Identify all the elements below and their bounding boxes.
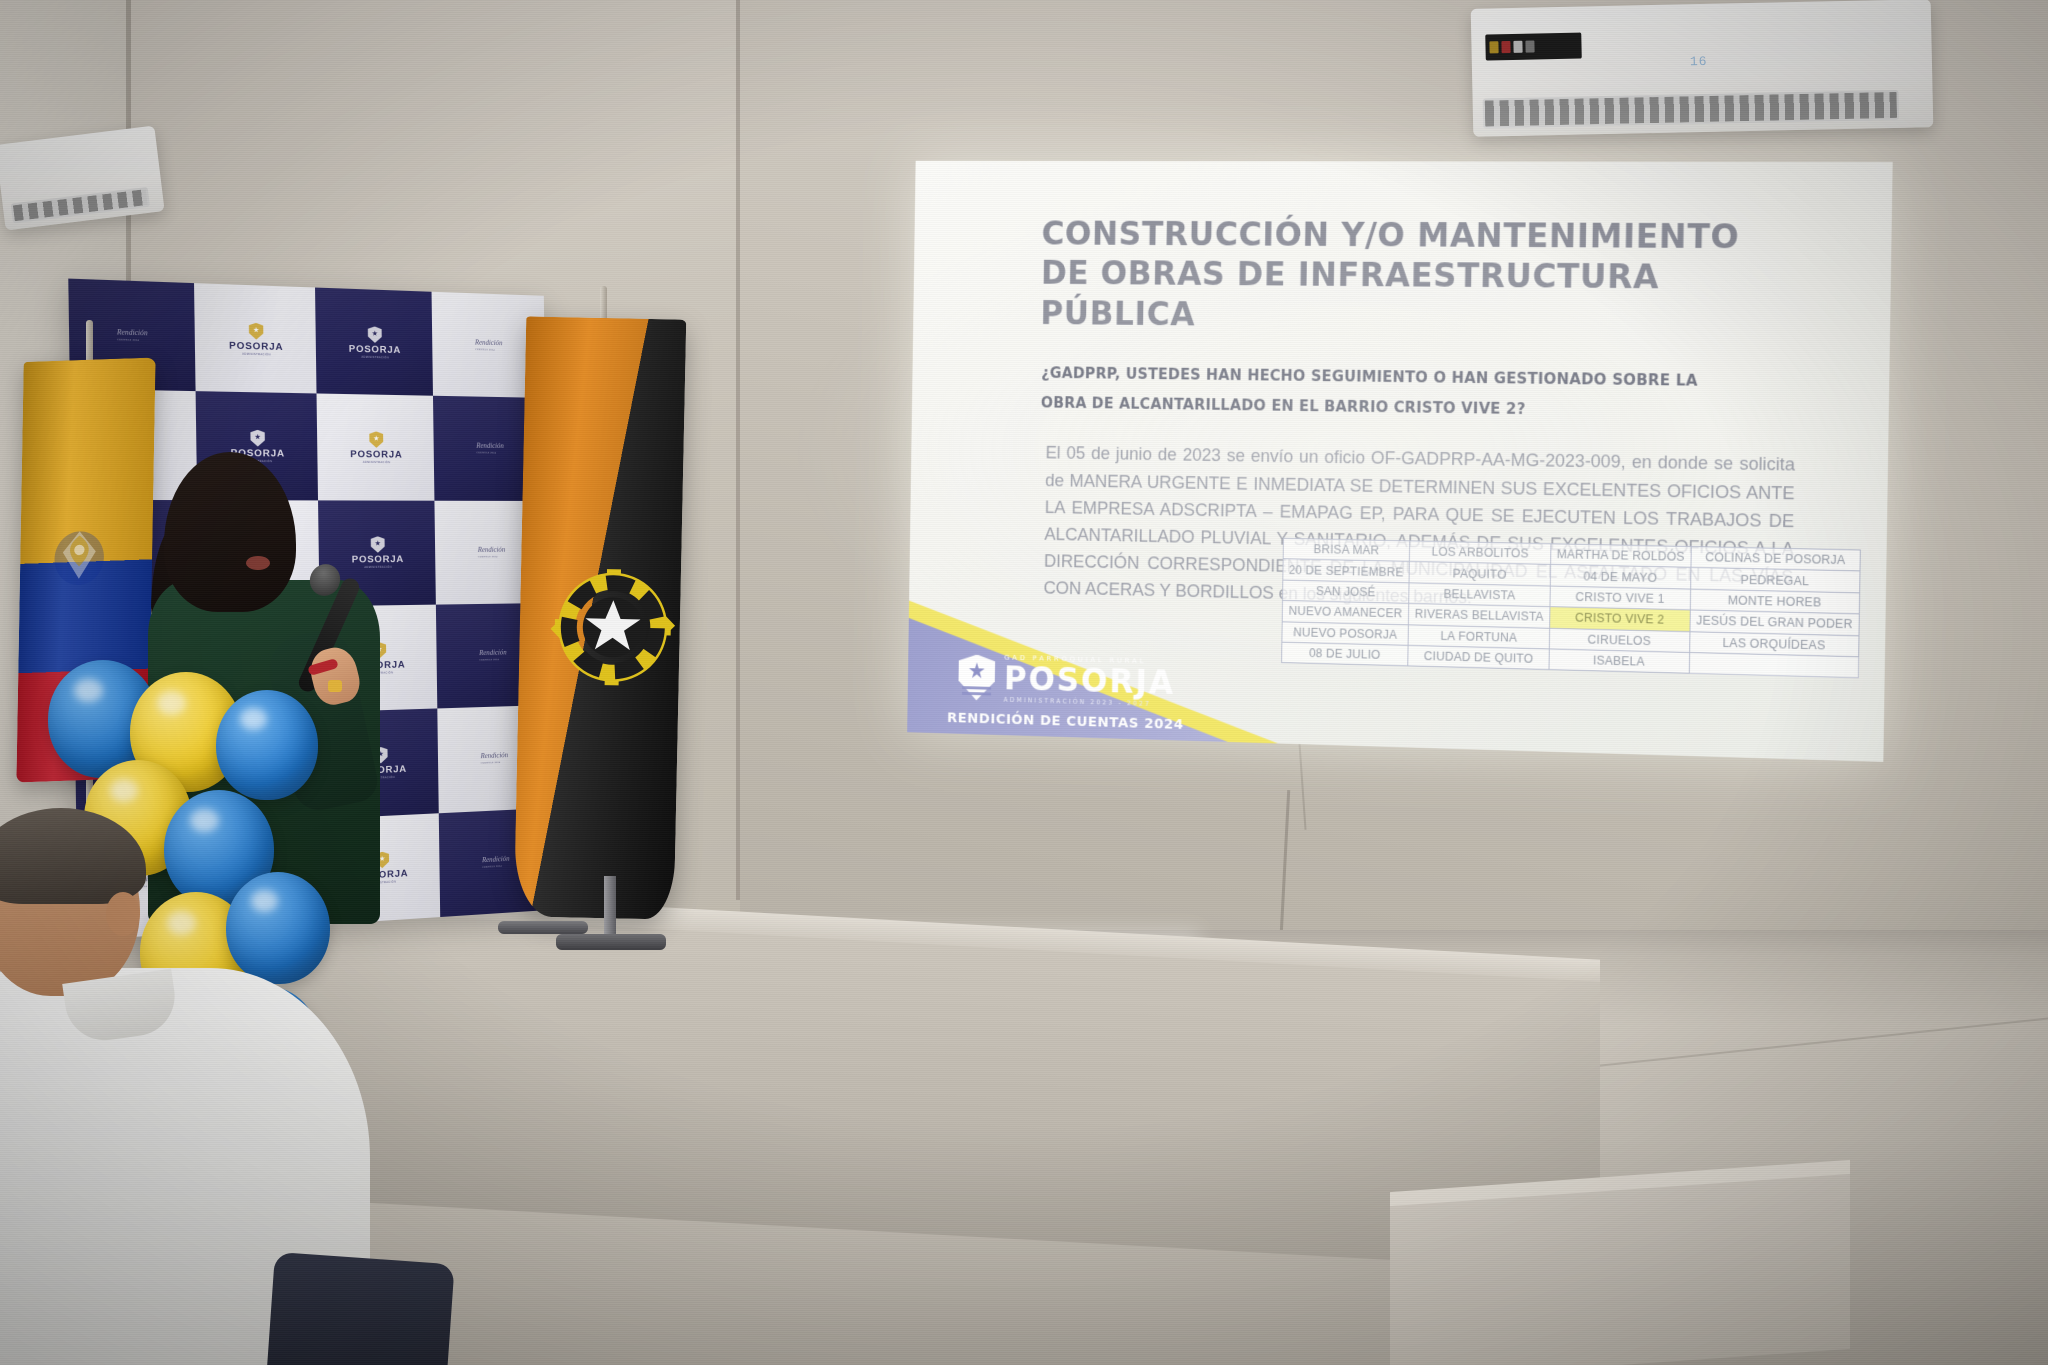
slide-footer-decoration: GAD PARROQUIAL RURAL POSORJA ADMINISTRAC…: [907, 492, 1306, 744]
projected-slide: CONSTRUCCIÓN Y/O MANTENIMIENTO DE OBRAS …: [907, 161, 1893, 762]
gear-and-star-emblem-icon: [549, 563, 678, 692]
air-conditioner-unit: 16: [1471, 0, 1934, 137]
slide-question: ¿GADPRP, USTEDES HAN HECHO SEGUIMIENTO O…: [1041, 359, 1703, 428]
table-cell: [1689, 652, 1859, 678]
table-cell: CIUDAD DE QUITO: [1408, 645, 1549, 670]
ac-vent-louvers: [1483, 90, 1900, 129]
backdrop-word: POSORJA: [229, 341, 283, 352]
posorja-logo: GAD PARROQUIAL RURAL POSORJA ADMINISTRAC…: [958, 653, 1175, 708]
slide-surface: CONSTRUCCIÓN Y/O MANTENIMIENTO DE OBRAS …: [907, 161, 1893, 762]
presenter-ring: [328, 680, 342, 692]
flag-stand-secondary: [498, 890, 588, 934]
table-cell: ISABELA: [1549, 649, 1689, 674]
ac-display-readout: 16: [1690, 54, 1708, 69]
presenter-mouth: [246, 556, 270, 570]
barrios-table: BRISA MARLOS ARBOLITOSMARTHA DE ROLDÓSCO…: [1281, 538, 1861, 679]
balloon: [216, 690, 318, 800]
audience-member-foreground: [0, 818, 400, 1365]
shield-star-icon: [958, 654, 995, 701]
photo-scene: 16 RendiciónCUENTAS 2024 POSORJAADMINIST…: [0, 0, 2048, 1365]
wall-seam: [736, 0, 740, 900]
ac-brand-badge: [1485, 33, 1582, 61]
slide-title: CONSTRUCCIÓN Y/O MANTENIMIENTO DE OBRAS …: [1040, 215, 1801, 342]
logo-name: POSORJA: [1004, 662, 1176, 699]
audience-chair: [265, 1252, 454, 1365]
barrios-table-wrapper: BRISA MARLOS ARBOLITOSMARTHA DE ROLDÓSCO…: [1281, 538, 1861, 679]
ecuador-coat-of-arms-icon: [48, 524, 111, 596]
presenter-hair: [164, 452, 296, 612]
audience-hair: [0, 808, 146, 904]
table-cell: MARTHA DE ROLDÓS: [1551, 544, 1691, 568]
table-cell: LOS ARBOLITOS: [1410, 541, 1551, 565]
posorja-parish-flag: [514, 316, 687, 919]
audience-ear: [106, 892, 140, 936]
